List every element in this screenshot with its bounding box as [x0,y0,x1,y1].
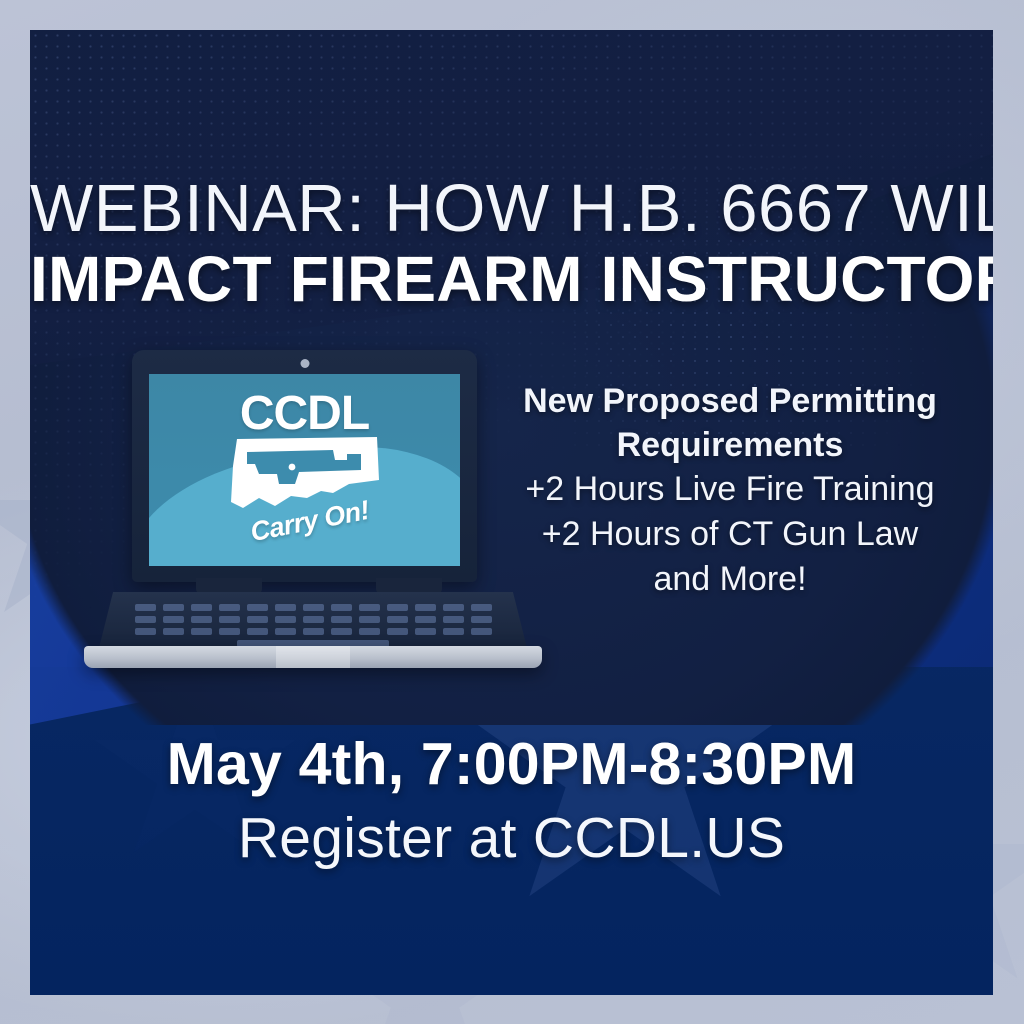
laptop-illustration: CCDL Carry On! [98,350,528,680]
keyboard-row [98,628,528,635]
keyboard-row [98,616,528,623]
laptop-hinge-right [376,578,442,594]
ccdl-logo: CCDL Carry On! [149,374,460,566]
details-item-2: +2 Hours of CT Gun Law [500,512,960,557]
details-item-3: and More! [500,557,960,602]
registration-cta[interactable]: Register at CCDL.US [30,805,993,871]
ccdl-logo-wordmark: CCDL [149,390,460,438]
details-item-1: +2 Hours Live Fire Training [500,467,960,512]
event-date-time: May 4th, 7:00PM-8:30PM [30,730,993,798]
laptop-lid: CCDL Carry On! [132,350,477,582]
laptop-hinge-left [196,578,262,594]
keyboard-row [98,604,528,611]
details-heading-line1: New Proposed Permitting [500,380,960,424]
webcam-icon [300,359,309,368]
page-title-line2: IMPACT FIREARM INSTRUCTORS [30,242,993,316]
details-block: New Proposed Permitting Requirements +2 … [500,380,960,603]
laptop-keyboard [98,592,528,652]
poster-content: WEBINAR: HOW H.B. 6667 WILL IMPACT FIREA… [30,30,993,995]
page-title-line1: WEBINAR: HOW H.B. 6667 WILL [30,170,993,247]
details-heading-line2: Requirements [500,424,960,468]
laptop-screen: CCDL Carry On! [149,374,460,566]
laptop-base [98,592,528,652]
poster-frame: WEBINAR: HOW H.B. 6667 WILL IMPACT FIREA… [0,0,1024,1024]
laptop-front-edge [84,646,542,668]
poster-panel: WEBINAR: HOW H.B. 6667 WILL IMPACT FIREA… [30,30,993,995]
